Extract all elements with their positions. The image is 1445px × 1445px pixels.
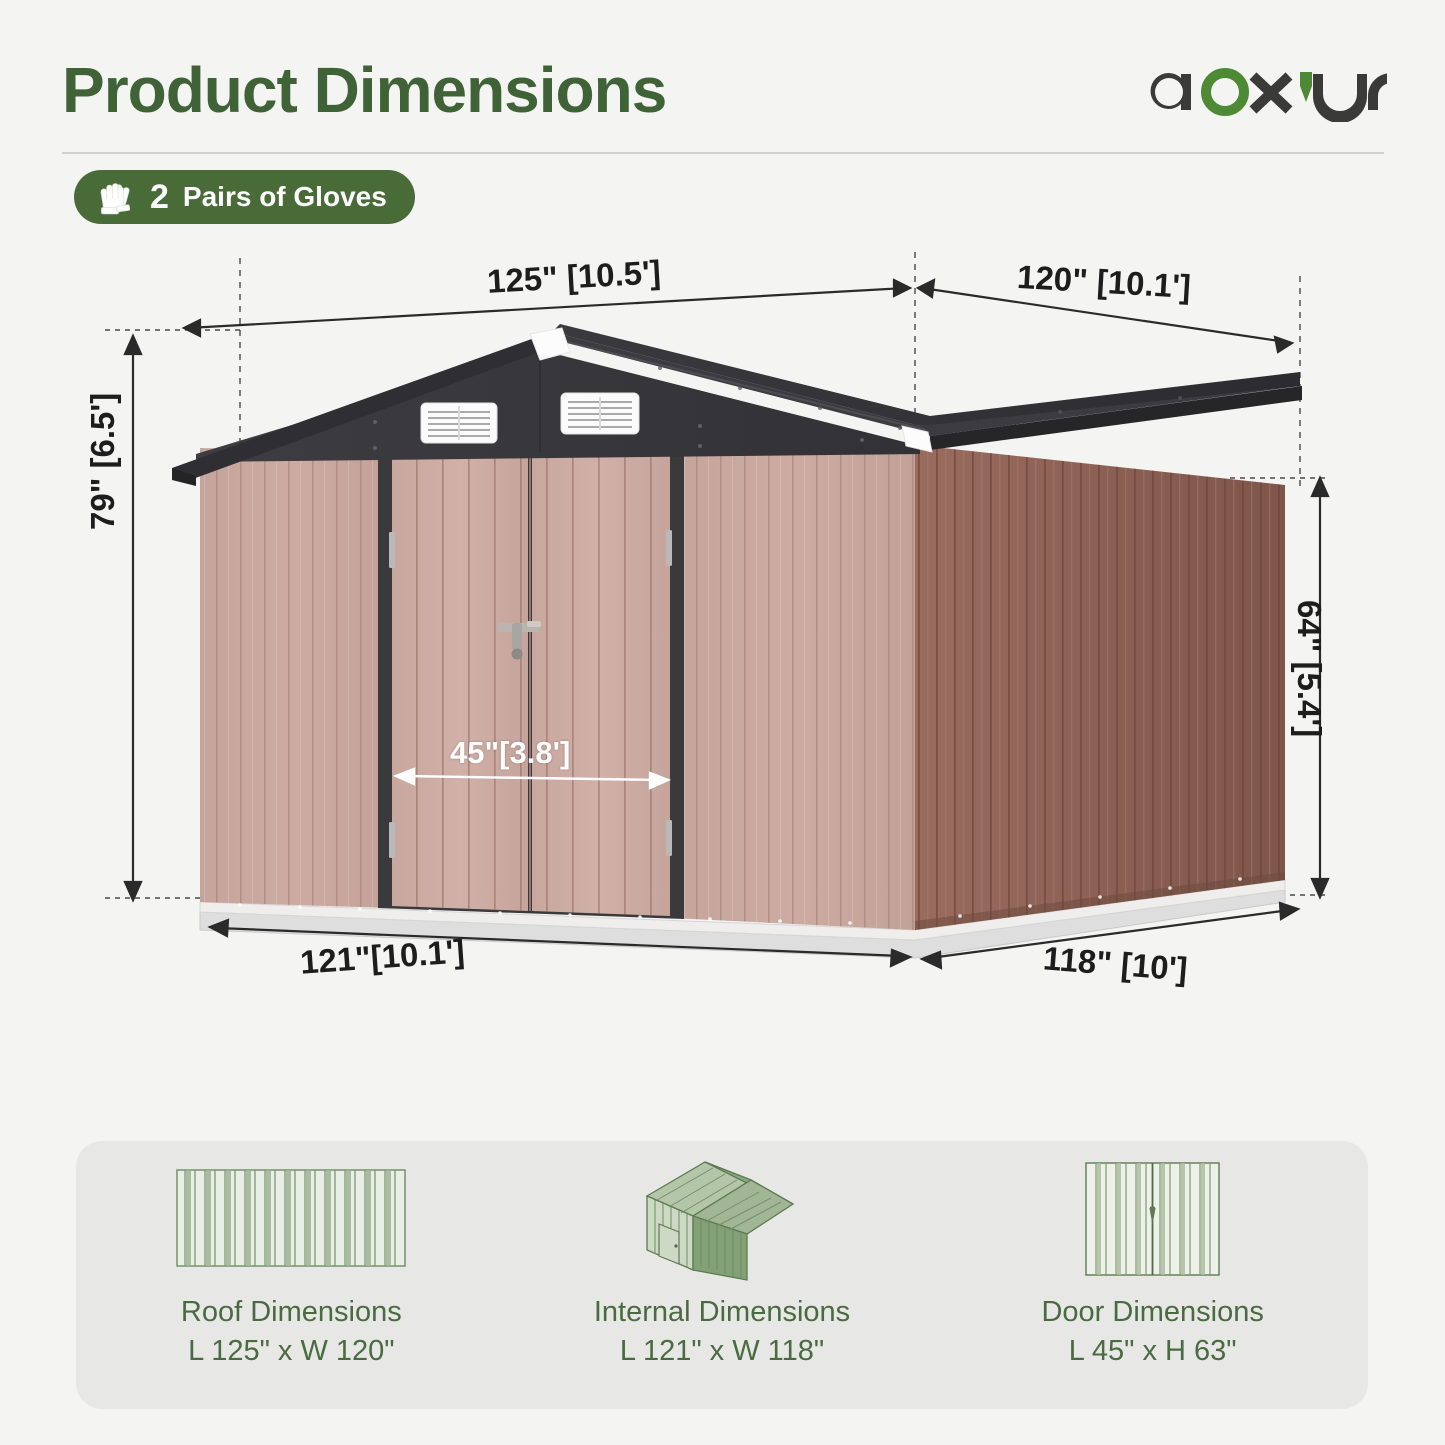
dim-eave-height-label: 64" [5.4']: [1290, 600, 1328, 737]
gloves-label: Pairs of Gloves: [183, 183, 387, 211]
vent-right: [561, 393, 639, 434]
dimensions-summary-card: Roof Dimensions L 125" x W 120": [76, 1141, 1368, 1409]
info-card-internal-title: Internal Dimensions: [594, 1296, 850, 1328]
info-card-door: Door Dimensions L 45" x H 63": [937, 1141, 1368, 1409]
info-card-door-title: Door Dimensions: [1041, 1296, 1263, 1328]
info-card-roof: Roof Dimensions L 125" x W 120": [76, 1141, 507, 1409]
double-door-icon: [1080, 1159, 1225, 1279]
vent-left: [421, 403, 497, 443]
gloves-count: 2: [150, 180, 169, 214]
header-divider: [62, 152, 1384, 154]
product-dimensions-infographic: Product Dimensions: [0, 0, 1445, 1445]
shed-3d-icon: [627, 1159, 817, 1279]
shed-dimension-diagram: [0, 240, 1445, 1040]
info-card-roof-value: L 125" x W 120": [181, 1332, 402, 1371]
dim-peak-height-label: 79" [6.5']: [84, 393, 122, 530]
info-card-roof-title: Roof Dimensions: [181, 1296, 402, 1328]
info-card-internal: Internal Dimensions L 121" x W 118": [507, 1141, 938, 1409]
page-title: Product Dimensions: [62, 58, 666, 122]
gloves-badge: 2 Pairs of Gloves: [74, 170, 415, 224]
gloves-icon: [92, 177, 140, 217]
info-card-door-value: L 45" x H 63": [1041, 1332, 1263, 1371]
brand-logo: [1137, 62, 1387, 120]
info-card-internal-value: L 121" x W 118": [594, 1332, 850, 1371]
dim-door-width-label: 45"[3.8']: [450, 735, 570, 771]
roof-panel-icon: [171, 1159, 411, 1279]
